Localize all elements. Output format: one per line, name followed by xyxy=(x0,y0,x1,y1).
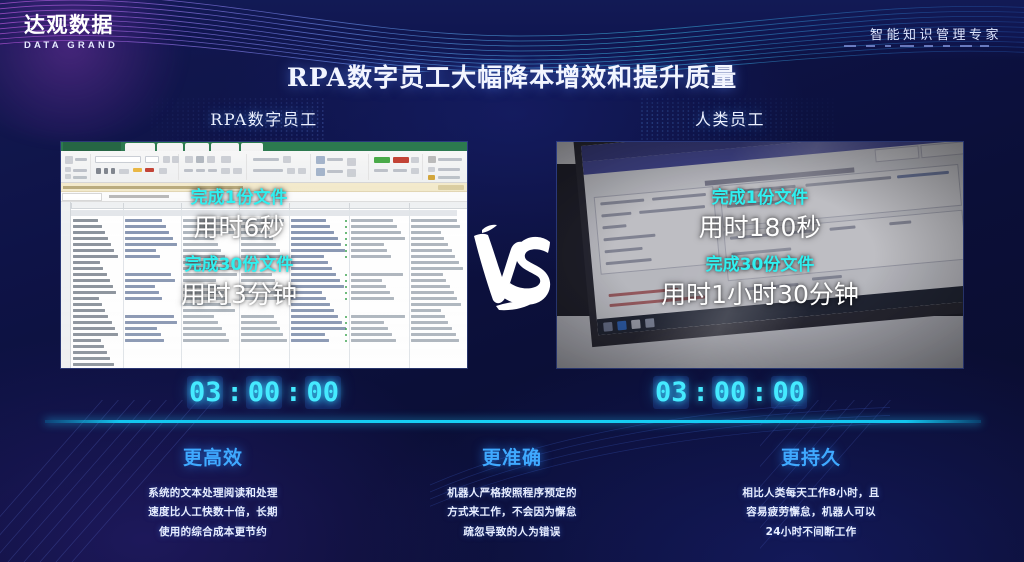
caption-human-line4: 用时1小时30分钟 xyxy=(557,275,963,311)
timer-rpa-hours: 03 xyxy=(187,376,224,409)
caption-rpa-line2: 用时6秒 xyxy=(61,208,417,244)
caption-human-line3: 完成30份文件 xyxy=(557,250,963,275)
brand-tagline: 智能知识管理专家 xyxy=(870,24,1002,43)
timer-rpa-minutes: 00 xyxy=(246,376,283,409)
vs-badge-icon xyxy=(466,222,558,318)
brand-logo-cn: 达观数据 xyxy=(24,14,154,36)
feature-column-accuracy: 更准确 机器人严格按照程序预定的 方式来工作，不会因为懈怠 疏忽导致的人为错误 xyxy=(347,443,677,542)
feature-body: 机器人严格按照程序预定的 方式来工作，不会因为懈怠 疏忽导致的人为错误 xyxy=(347,484,677,542)
timer-rpa-sep-2: : xyxy=(284,377,302,408)
feature-body-line: 使用的综合成本更节约 xyxy=(48,523,378,542)
timer-human-hours: 03 xyxy=(653,376,690,409)
feature-body-line: 速度比人工快数十倍，长期 xyxy=(48,503,378,522)
feature-body: 系统的文本处理阅读和处理 速度比人工快数十倍，长期 使用的综合成本更节约 xyxy=(48,484,378,542)
brand-logo: 达观数据 DATA GRAND xyxy=(24,14,154,51)
feature-body-line: 系统的文本处理阅读和处理 xyxy=(48,484,378,503)
page-title: RPA数字员工大幅降本增效和提升质量 xyxy=(0,58,1024,94)
feature-body-line: 机器人严格按照程序预定的 xyxy=(347,484,677,503)
feature-title: 更持久 xyxy=(646,443,976,470)
timer-human-sep-2: : xyxy=(750,377,768,408)
caption-rpa-line4: 用时3分钟 xyxy=(61,275,417,311)
column-heading-human: 人类员工 xyxy=(580,106,880,130)
timer-human: 03 : 00 : 00 xyxy=(580,373,880,411)
timer-human-sep-1: : xyxy=(691,377,709,408)
feature-body: 相比人类每天工作8小时，且 容易疲劳懈怠，机器人可以 24小时不间断工作 xyxy=(646,484,976,542)
feature-body-line: 24小时不间断工作 xyxy=(646,523,976,542)
caption-rpa-line3: 完成30份文件 xyxy=(61,250,417,275)
timer-rpa-sep-1: : xyxy=(225,377,243,408)
caption-human-line2: 用时180秒 xyxy=(557,208,963,244)
caption-rpa-line1: 完成1份文件 xyxy=(61,183,417,208)
timer-rpa: 03 : 00 : 00 xyxy=(114,373,414,411)
feature-body-line: 容易疲劳懈怠，机器人可以 xyxy=(646,503,976,522)
brand-logo-en: DATA GRAND xyxy=(24,40,154,51)
column-heading-rpa: RPA数字员工 xyxy=(114,106,414,130)
feature-body-line: 方式来工作，不会因为懈怠 xyxy=(347,503,677,522)
section-divider xyxy=(45,420,981,423)
caption-human-line1: 完成1份文件 xyxy=(557,183,963,208)
feature-column-efficiency: 更高效 系统的文本处理阅读和处理 速度比人工快数十倍，长期 使用的综合成本更节约 xyxy=(48,443,378,542)
feature-body-line: 相比人类每天工作8小时，且 xyxy=(646,484,976,503)
timer-human-minutes: 00 xyxy=(712,376,749,409)
feature-column-endurance: 更持久 相比人类每天工作8小时，且 容易疲劳懈怠，机器人可以 24小时不间断工作 xyxy=(646,443,976,542)
timer-human-seconds: 00 xyxy=(771,376,808,409)
feature-title: 更高效 xyxy=(48,443,378,470)
feature-body-line: 疏忽导致的人为错误 xyxy=(347,523,677,542)
timer-rpa-seconds: 00 xyxy=(305,376,342,409)
feature-title: 更准确 xyxy=(347,443,677,470)
tagline-dash-decoration xyxy=(838,44,998,48)
presentation-slide: 达观数据 DATA GRAND 智能知识管理专家 RPA数字员工大幅降本增效和提… xyxy=(0,0,1024,562)
